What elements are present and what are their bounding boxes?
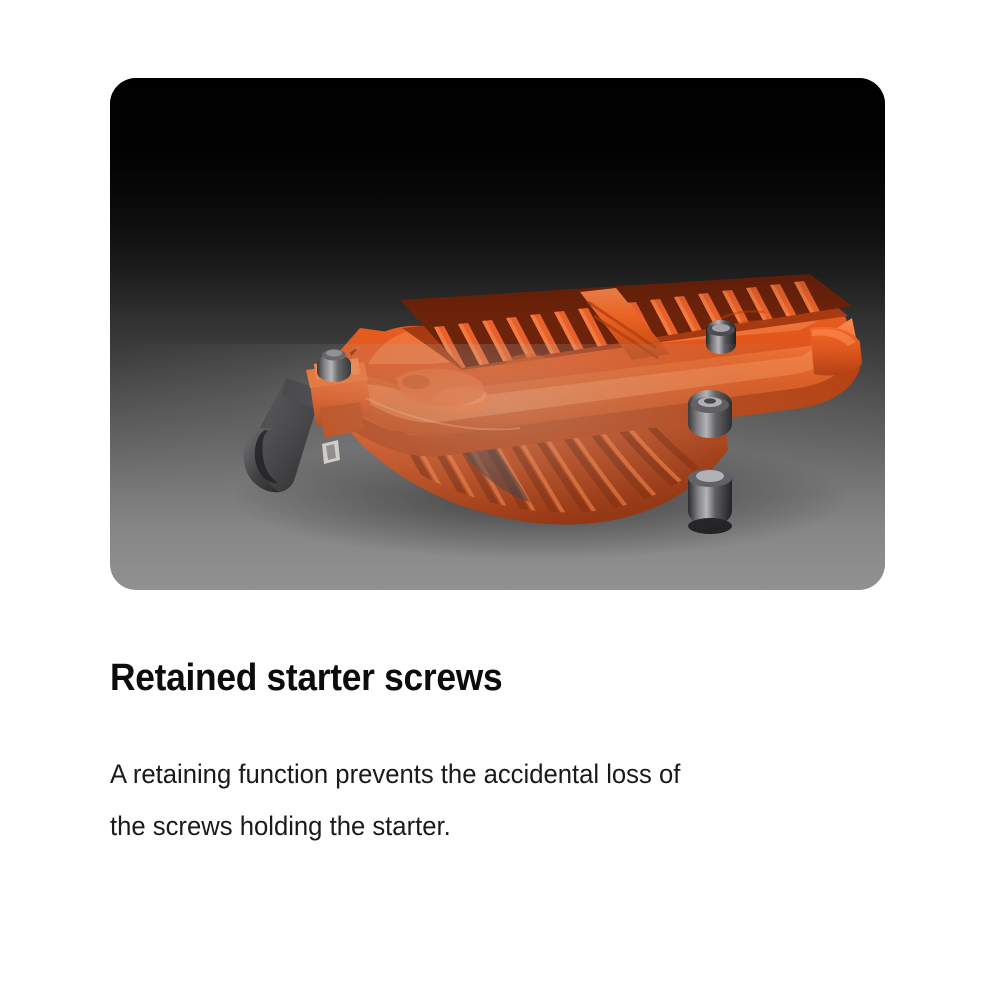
feature-description-line-1: A retaining function prevents the accide… — [110, 748, 861, 800]
cover-top-deck — [306, 268, 870, 456]
retained-screw — [706, 320, 736, 354]
feature-card: Retained starter screws A retaining func… — [0, 0, 1000, 1000]
retained-screw — [688, 390, 732, 438]
product-image — [110, 78, 885, 590]
retained-screw — [688, 469, 732, 534]
feature-description: A retaining function prevents the accide… — [110, 748, 861, 852]
feature-title: Retained starter screws — [110, 655, 854, 701]
feature-description-line-2: the screws holding the starter. — [110, 800, 861, 852]
screw-retainer-tab — [322, 440, 340, 464]
product-illustration — [110, 78, 885, 590]
